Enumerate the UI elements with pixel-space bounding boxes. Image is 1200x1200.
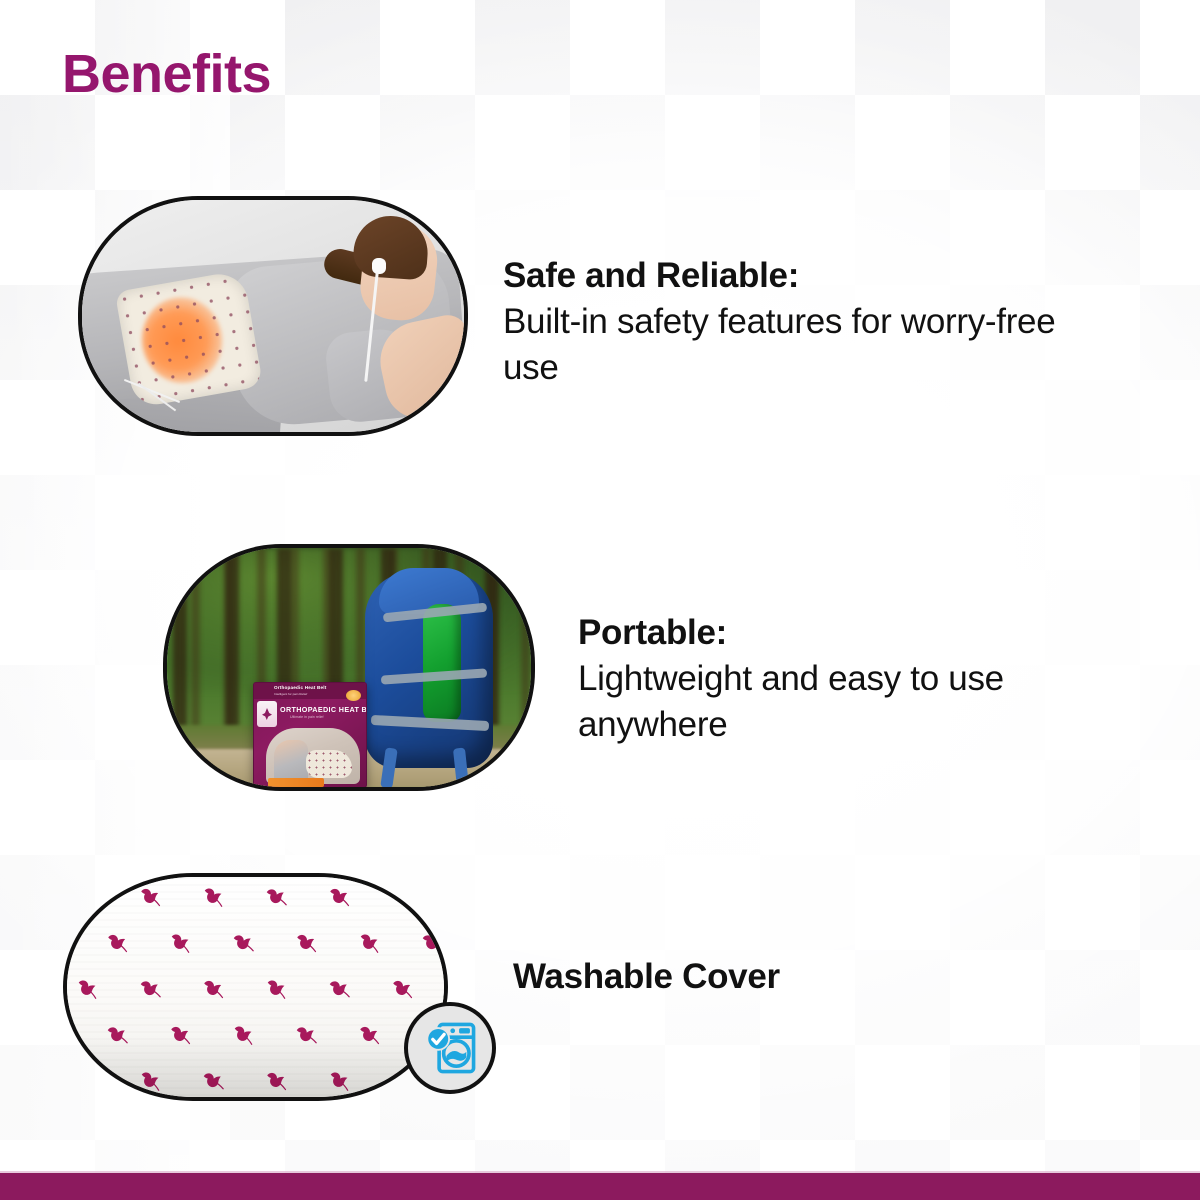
- green-water-bottle: [423, 604, 461, 722]
- brand-logo: [257, 701, 277, 727]
- product-box-orange-strip: [268, 778, 324, 787]
- bird-motif-icon: [264, 977, 291, 1002]
- product-box-subtitle: Ultimate in pain relief: [290, 715, 324, 719]
- bird-motif-icon: [75, 977, 102, 1002]
- benefit-1-text: Safe and Reliable: Built-in safety featu…: [503, 253, 1063, 392]
- benefit-1-image-frame: [78, 196, 468, 436]
- fabric-bottom-shadow: [67, 1037, 444, 1097]
- product-box-photo-person: [274, 740, 308, 782]
- benefit-3-headline: Washable Cover: [513, 954, 973, 1000]
- bird-motif-icon: [201, 885, 228, 910]
- product-box-top-title: Orthopaedic Heat Belt: [274, 685, 362, 690]
- product-box-photo: [266, 728, 360, 784]
- bird-motif-icon: [104, 930, 133, 957]
- bird-motif-icon: [293, 930, 322, 957]
- benefit-1-body: Built-in safety features for worry-free …: [503, 299, 1063, 391]
- benefit-2-image-frame: Orthopaedic Heat Belt Intelligent for pa…: [163, 544, 535, 791]
- bird-motif-icon: [168, 931, 195, 956]
- benefit-2-headline: Portable:: [578, 610, 1158, 656]
- benefit-2-text: Portable: Lightweight and easy to use an…: [578, 610, 1158, 749]
- washing-machine-check-icon: [421, 1019, 479, 1077]
- benefit-3-image-frame: [63, 873, 448, 1101]
- infographic-page: Benefits Safe and Reliable: Built-in saf…: [0, 0, 1200, 1200]
- washable-badge: [404, 1002, 496, 1094]
- bird-motif-icon: [137, 884, 166, 911]
- benefit-2-body: Lightweight and easy to use anywhere: [578, 656, 1158, 748]
- earphone-bud-icon: [372, 258, 386, 274]
- benefit-1-headline: Safe and Reliable:: [503, 253, 1063, 299]
- bird-motif-icon: [357, 931, 384, 956]
- heat-belt: [115, 270, 264, 409]
- bottom-accent-bar: [0, 1173, 1200, 1200]
- benefit-3-text: Washable Cover: [513, 954, 973, 1000]
- bird-motif-icon: [389, 976, 418, 1003]
- product-box-top-subtitle: Intelligent for pain Relief: [274, 692, 307, 696]
- bird-motif-icon: [200, 976, 229, 1003]
- heat-belt-print-dots: [115, 270, 264, 409]
- product-box-title: ORTHOPAEDIC HEAT BELT: [280, 705, 367, 714]
- page-title: Benefits: [62, 46, 271, 103]
- product-box-photo-belt: [306, 750, 352, 778]
- bird-motif-icon: [390, 885, 417, 910]
- product-box-seal-badge: [346, 690, 361, 701]
- bird-motif-icon: [326, 884, 355, 911]
- product-box: Orthopaedic Heat Belt Intelligent for pa…: [253, 682, 367, 788]
